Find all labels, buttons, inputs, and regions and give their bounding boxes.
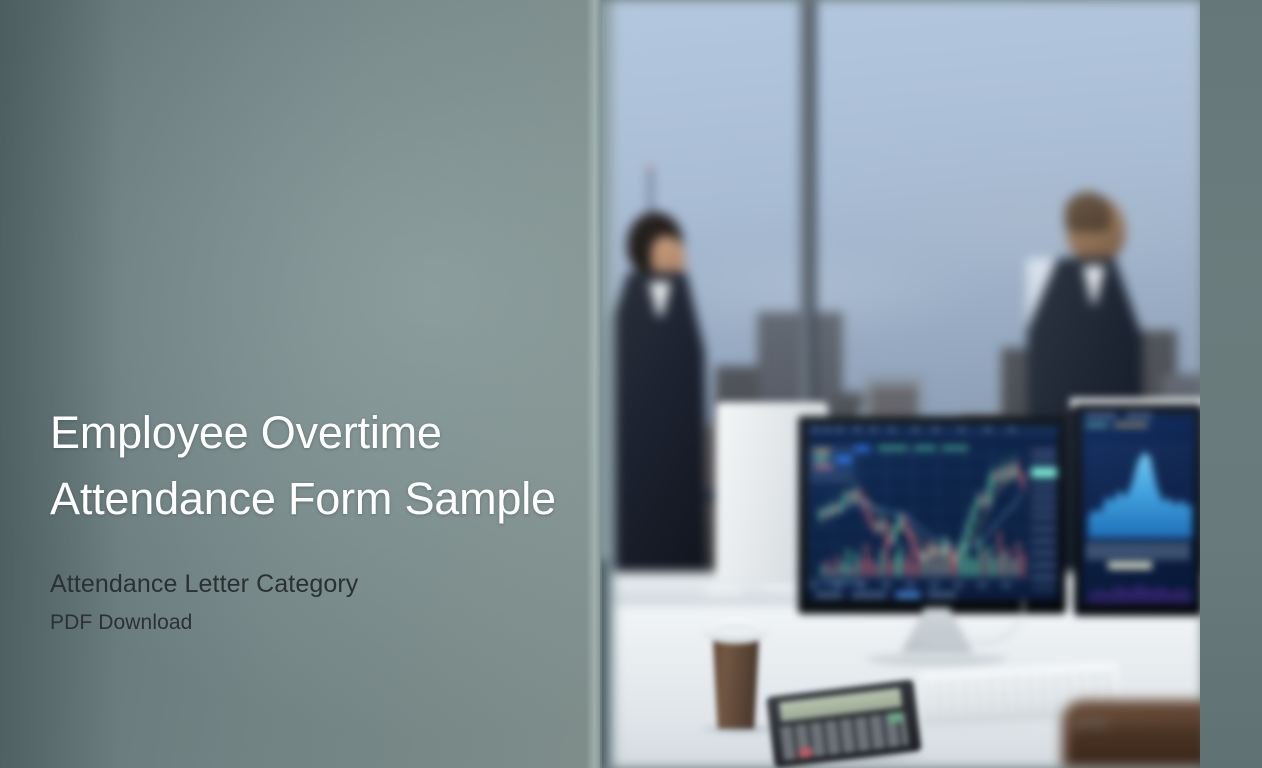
category-label: Attendance Letter Category	[50, 568, 590, 600]
office-chair-arm-lower	[1070, 726, 1202, 768]
page-title-line-2: Attendance Form Sample	[50, 466, 590, 532]
right-wall-panel	[1200, 0, 1262, 768]
page-title-line-1: Employee Overtime	[50, 400, 590, 466]
slide-canvas: Employee Overtime Attendance Form Sample…	[0, 0, 1262, 768]
wall-edge-highlight	[586, 0, 602, 768]
wall-shading	[0, 0, 120, 768]
page-title: Employee Overtime Attendance Form Sample	[50, 400, 590, 532]
pdf-download-label[interactable]: PDF Download	[50, 609, 590, 636]
hero-text-block: Employee Overtime Attendance Form Sample…	[50, 400, 590, 636]
desk-hardware-layer	[597, 0, 1202, 768]
left-wall-panel	[0, 0, 600, 768]
